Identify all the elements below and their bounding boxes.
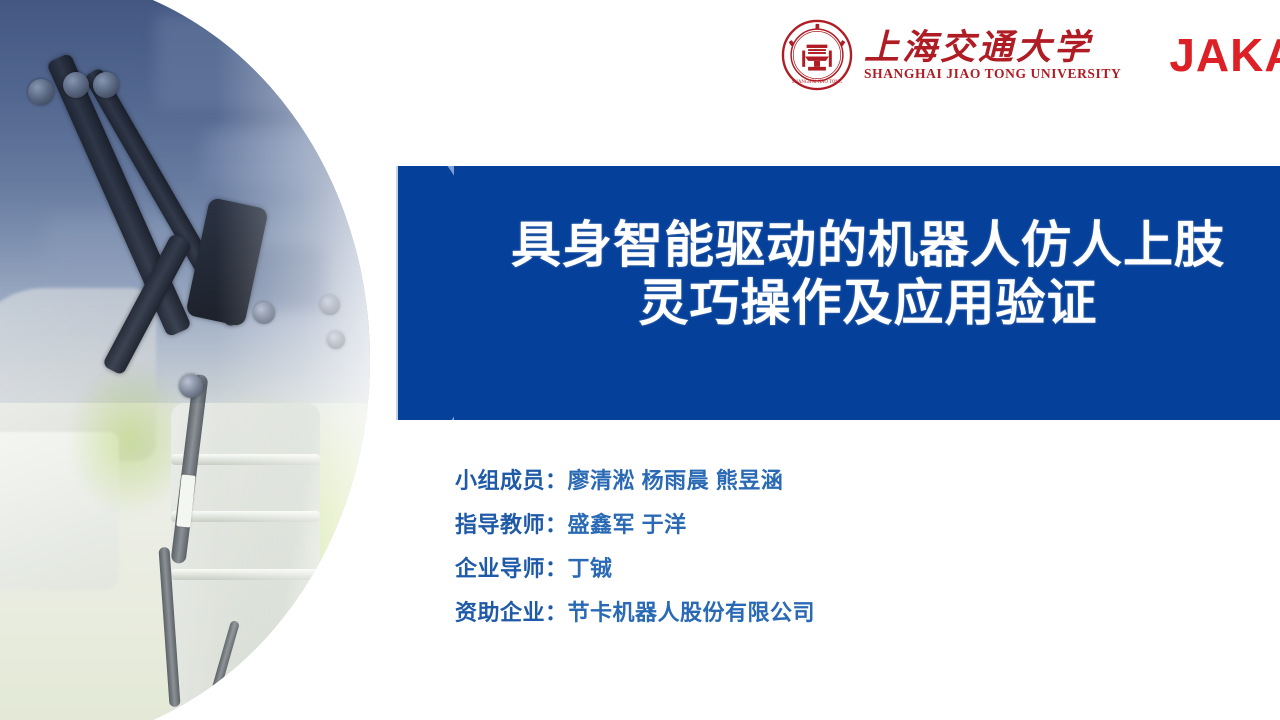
sjtu-name-en: SHANGHAI JIAO TONG UNIVERSITY — [864, 67, 1121, 81]
credit-row-advisors: 指导教师：盛鑫军 于洋 — [455, 514, 815, 536]
credit-label-industry-mentor: 企业导师： — [455, 556, 568, 581]
credit-value-sponsor: 节卡机器人股份有限公司 — [568, 600, 816, 625]
title-line-2: 灵巧操作及应用验证 — [468, 274, 1268, 332]
logo-row: SHANGHAI JIAO TONG 上海交通大学 SHANGHAI JIAO … — [780, 14, 1280, 96]
credit-row-industry-mentor: 企业导师：丁铖 — [455, 558, 815, 580]
credit-value-advisors: 盛鑫军 于洋 — [568, 512, 687, 537]
credit-value-industry-mentor: 丁铖 — [568, 556, 613, 581]
banner-navy-curve — [398, 166, 478, 420]
svg-text:SHANGHAI JIAO TONG: SHANGHAI JIAO TONG — [792, 80, 843, 85]
credit-value-members: 廖清淞 杨雨晨 熊昱涵 — [568, 468, 784, 493]
credit-label-sponsor: 资助企业： — [455, 600, 568, 625]
credits-block: 小组成员：廖清淞 杨雨晨 熊昱涵 指导教师：盛鑫军 于洋 企业导师：丁铖 资助企… — [455, 470, 815, 624]
credit-label-members: 小组成员： — [455, 468, 568, 493]
photo-oval-clip — [0, 0, 370, 720]
credit-label-advisors: 指导教师： — [455, 512, 568, 537]
sjtu-seal-icon: SHANGHAI JIAO TONG — [780, 18, 854, 92]
sjtu-name-cn: 上海交通大学 — [864, 30, 1121, 65]
title-slide: SHANGHAI JIAO TONG 上海交通大学 SHANGHAI JIAO … — [0, 0, 1280, 720]
credit-row-sponsor: 资助企业：节卡机器人股份有限公司 — [455, 602, 815, 624]
jaka-logo: JAKA — [1169, 32, 1280, 78]
sjtu-logo: SHANGHAI JIAO TONG 上海交通大学 SHANGHAI JIAO … — [780, 18, 1121, 92]
title-banner: 具身智能驱动的机器人仿人上肢 灵巧操作及应用验证 — [398, 166, 1280, 420]
title-line-1: 具身智能驱动的机器人仿人上肢 — [468, 216, 1268, 274]
page-title: 具身智能驱动的机器人仿人上肢 灵巧操作及应用验证 — [468, 216, 1268, 332]
credit-row-members: 小组成员：廖清淞 杨雨晨 熊昱涵 — [455, 470, 815, 492]
sjtu-wordmark: 上海交通大学 SHANGHAI JIAO TONG UNIVERSITY — [864, 30, 1121, 81]
hero-photo-panel — [0, 0, 372, 720]
robot-arm-photo — [0, 0, 370, 720]
